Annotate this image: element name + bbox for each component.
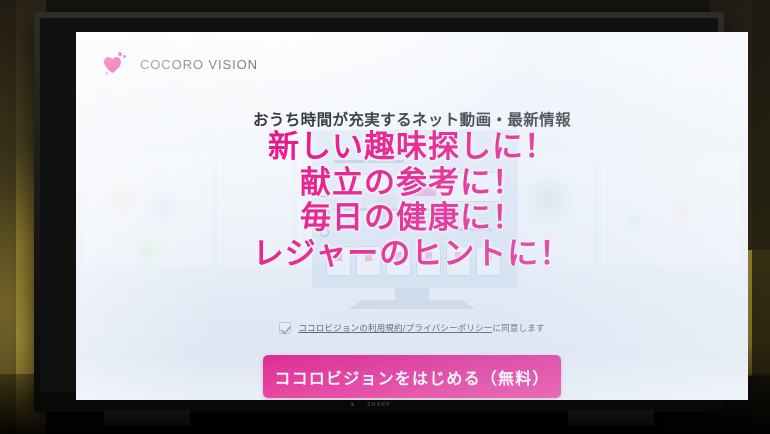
tv-screen: COCORO VISION おうち時間が充実するネット動画・最新情報 新しい趣味… — [76, 32, 748, 400]
heart-logo-icon — [102, 50, 130, 78]
headline-line-1: 新しい趣味探しに！ — [76, 132, 748, 164]
brand-name: COCORO VISION — [140, 57, 258, 72]
consent-checkbox[interactable] — [279, 322, 291, 334]
brand-logo[interactable]: COCORO VISION — [102, 50, 258, 78]
page-content: COCORO VISION おうち時間が充実するネット動画・最新情報 新しい趣味… — [76, 32, 748, 400]
start-service-button[interactable]: ココロビジョンをはじめる（無料） — [263, 355, 561, 398]
headline-block: 新しい趣味探しに！ 献立の参考に！ 毎日の健康に！ レジャーのヒントに！ — [76, 132, 748, 270]
tv-brand-mark: SHARP — [367, 402, 391, 408]
terms-privacy-link[interactable]: ココロビジョンの利用規約/プライバシーポリシー — [298, 324, 492, 334]
consent-text: ココロビジョンの利用規約/プライバシーポリシーに同意します — [298, 322, 544, 334]
power-led-icon — [351, 403, 354, 406]
television: SHARP — [34, 12, 724, 412]
room-scene: SHARP — [0, 0, 770, 434]
headline-line-3: 毎日の健康に！ — [76, 203, 748, 235]
tv-foot-left — [104, 410, 190, 426]
subheadline: おうち時間が充実するネット動画・最新情報 — [76, 108, 748, 130]
tv-foot-right — [568, 410, 654, 426]
consent-suffix: に同意します — [492, 324, 544, 334]
consent-row: ココロビジョンの利用規約/プライバシーポリシーに同意します — [76, 322, 748, 334]
headline-line-4: レジャーのヒントに！ — [76, 239, 748, 271]
wall-right-edge — [752, 0, 770, 434]
headline-line-2: 献立の参考に！ — [76, 168, 748, 200]
wall-left-edge — [0, 0, 16, 434]
